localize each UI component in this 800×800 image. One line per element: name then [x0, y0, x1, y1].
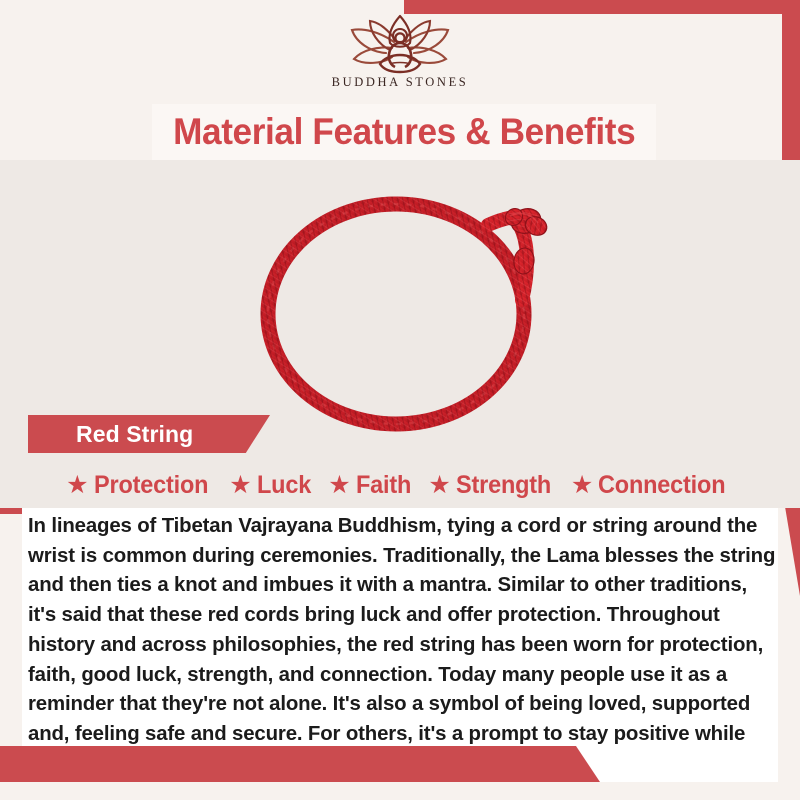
benefit-label: Connection: [598, 471, 725, 500]
section-ribbon-label: Red String: [76, 421, 193, 448]
benefits-row: ★ Protection ★ Luck ★ Faith ★ Strength ★…: [0, 466, 800, 504]
bottom-edge-fill: [0, 782, 800, 800]
infographic-poster: BUDDHA STONES Material Features & Benefi…: [0, 0, 800, 800]
description-block: In lineages of Tibetan Vajrayana Buddhis…: [22, 508, 778, 782]
benefit-item-faith: ★ Faith: [328, 471, 414, 500]
benefit-item-protection: ★ Protection: [66, 471, 215, 500]
section-ribbon: Red String: [28, 415, 270, 453]
lotus-meditation-icon: [336, 12, 464, 74]
page-title: Material Features & Benefits: [173, 111, 635, 153]
bottom-accent-bar: [0, 746, 600, 782]
benefit-item-luck: ★ Luck: [229, 471, 314, 500]
benefit-label: Luck: [257, 471, 311, 500]
star-icon: ★: [229, 473, 251, 498]
benefit-label: Faith: [356, 471, 411, 500]
benefit-label: Strength: [456, 471, 551, 500]
star-icon: ★: [328, 473, 350, 498]
star-icon: ★: [428, 473, 450, 498]
red-braided-string-bracelet-image: [238, 168, 582, 436]
star-icon: ★: [571, 473, 593, 498]
brand-name: BUDDHA STONES: [332, 75, 469, 90]
title-banner: Material Features & Benefits: [152, 104, 656, 160]
description-text: In lineages of Tibetan Vajrayana Buddhis…: [28, 512, 778, 779]
star-icon: ★: [66, 473, 88, 498]
brand-logo: BUDDHA STONES: [0, 12, 800, 100]
benefit-item-strength: ★ Strength: [428, 471, 557, 500]
benefit-item-connection: ★ Connection: [571, 471, 734, 500]
benefit-label: Protection: [94, 471, 208, 500]
hero-panel: [0, 160, 800, 508]
